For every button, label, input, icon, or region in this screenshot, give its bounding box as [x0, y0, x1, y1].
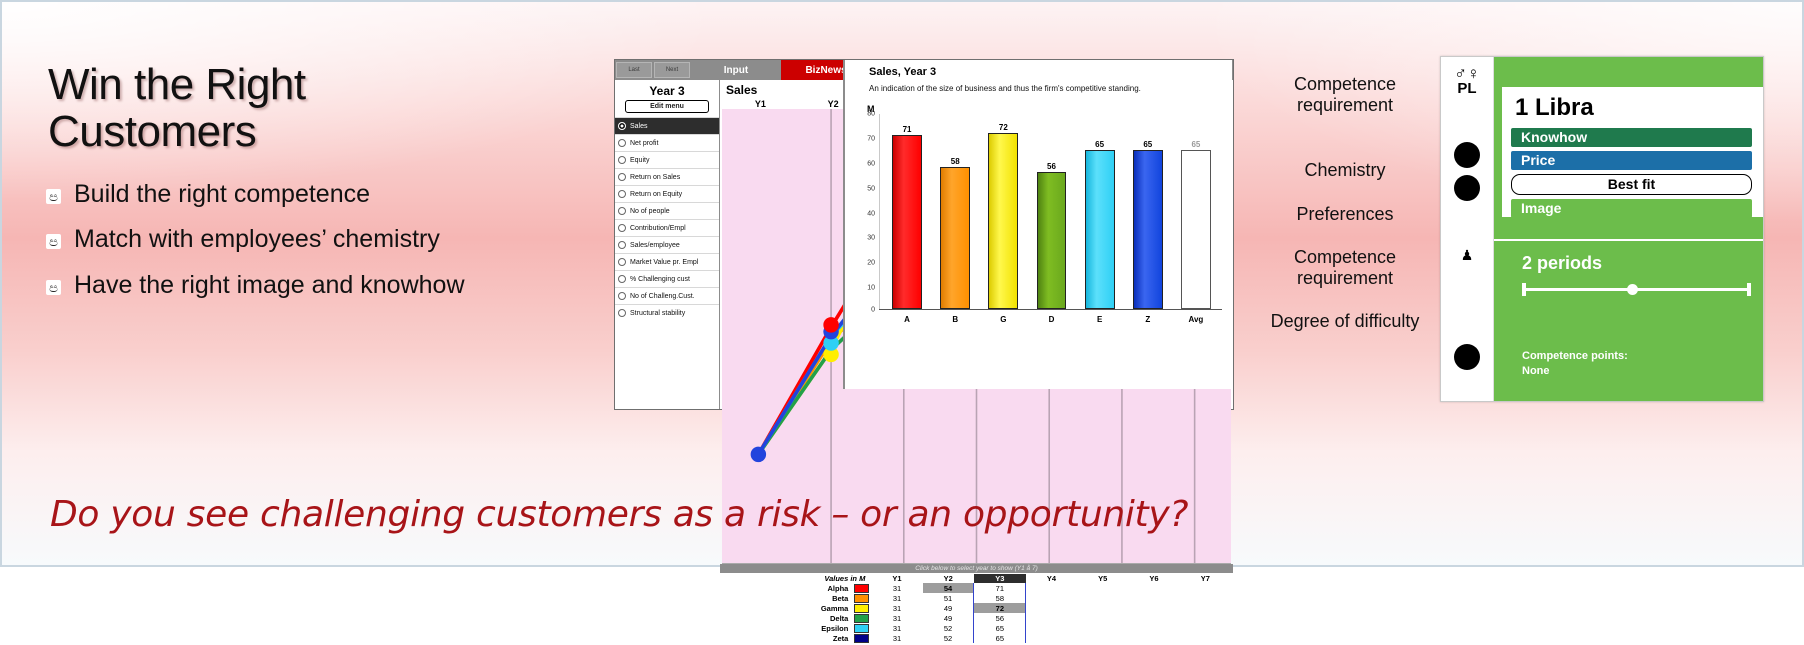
cell: 31 — [871, 623, 922, 633]
column-header-y7[interactable]: Y7 — [1180, 574, 1231, 583]
radio-icon — [618, 190, 626, 198]
radio-icon — [618, 122, 626, 130]
cell — [1026, 613, 1077, 623]
bar-x-labels: A B G D E Z Avg — [883, 315, 1220, 324]
bar-rect — [988, 133, 1018, 309]
y-tick: 0 — [855, 306, 875, 313]
radio-icon — [618, 258, 626, 266]
bar-item: 58 — [931, 114, 979, 309]
difficulty-dots — [1441, 135, 1493, 208]
cell — [1026, 583, 1077, 593]
card-detail-box: 1 Libra Knowhow Price Best fit Image — [1502, 87, 1763, 217]
cell: 52 — [923, 623, 974, 633]
bar-rect — [892, 135, 922, 309]
cell — [1077, 613, 1128, 623]
cell: 31 — [871, 603, 922, 613]
sidebar-item-label: Net profit — [630, 140, 658, 147]
card-divider — [1494, 239, 1763, 241]
radio-icon — [618, 173, 626, 181]
row-color-swatch — [852, 623, 871, 633]
cell — [1128, 603, 1179, 613]
pl-code-label: PL — [1441, 80, 1493, 97]
annotation-labels: Competence requirement Chemistry Prefere… — [1260, 74, 1430, 333]
label-preferences: Preferences — [1260, 204, 1430, 225]
cell — [1026, 633, 1077, 643]
bar-value: 56 — [1047, 162, 1056, 171]
list-item-label: Match with employees’ chemistry — [74, 225, 440, 254]
sidebar-item-structural-stability[interactable]: Structural stability — [615, 304, 719, 321]
bullet-list: ප Build the right competence ප Match wit… — [46, 180, 506, 316]
label-chemistry: Chemistry — [1260, 160, 1430, 181]
sidebar-item-label: Equity — [630, 157, 649, 164]
cell: 56 — [974, 613, 1026, 623]
table-row: Gamma 31 49 72 — [722, 603, 1231, 613]
bar-rect — [940, 167, 970, 309]
bar-item: 56 — [1027, 114, 1075, 309]
chip-knowhow[interactable]: Knowhow — [1511, 128, 1752, 147]
cell — [1128, 593, 1179, 603]
sidebar-item-pct-challenging-cust[interactable]: % Challenging cust — [615, 270, 719, 287]
cell — [1077, 633, 1128, 643]
column-header-y1[interactable]: Y1 — [871, 574, 922, 583]
list-item: ප Match with employees’ chemistry — [46, 225, 506, 254]
values-table-wrap: Values in M Y1 Y2 Y3 Y4 Y5 Y6 Y7 — [720, 573, 1233, 645]
sidebar-item-label: Return on Sales — [630, 174, 680, 181]
table-row: Beta 31 51 58 — [722, 593, 1231, 603]
cell — [1180, 613, 1231, 623]
y-tick: 10 — [855, 284, 875, 291]
cell: 51 — [923, 593, 974, 603]
row-color-swatch — [852, 583, 871, 593]
card-icon-column: ♂♀ PL ♟ — [1441, 57, 1494, 401]
cell — [1180, 583, 1231, 593]
cell: 49 — [923, 603, 974, 613]
list-item-label: Have the right image and knowhow — [74, 271, 465, 300]
sidebar-item-contribution-per-empl[interactable]: Contribution/Empl — [615, 219, 719, 236]
cell — [1077, 583, 1128, 593]
cell — [1026, 593, 1077, 603]
label-competence-requirement-1: Competence requirement — [1260, 74, 1430, 116]
bullet-glyph-icon: ප — [46, 280, 61, 295]
y-axis-line — [879, 114, 880, 310]
customer-card: ♂♀ PL ♟ 1 Libra Knowhow Price Best fit I… — [1440, 56, 1764, 402]
cell — [1026, 623, 1077, 633]
pl-block: ♂♀ PL — [1441, 65, 1493, 97]
cell: 49 — [923, 613, 974, 623]
cell — [1077, 593, 1128, 603]
sidebar-item-no-of-challenging-cust[interactable]: No of Challeng.Cust. — [615, 287, 719, 304]
sidebar-year-title: Year 3 — [615, 80, 719, 100]
difficulty-dot-icon — [1454, 175, 1480, 201]
cell: 71 — [974, 583, 1026, 593]
x-tick: B — [931, 315, 979, 324]
cell: 31 — [871, 593, 922, 603]
sidebar-item-label: No of people — [630, 208, 670, 215]
slider-knob[interactable] — [1627, 284, 1638, 295]
x-axis-line — [879, 309, 1222, 310]
radio-icon — [618, 275, 626, 283]
app-screenshot: Last Next Input BizNews Report Show 'Com… — [614, 59, 1234, 410]
bar-value: 58 — [951, 157, 960, 166]
sidebar-item-net-profit[interactable]: Net profit — [615, 134, 719, 151]
sidebar-item-label: Sales — [630, 123, 648, 130]
row-label: Zeta — [722, 633, 852, 643]
y-tick: 60 — [855, 160, 875, 167]
cell: 31 — [871, 613, 922, 623]
x-tick: E — [1076, 315, 1124, 324]
slider-cap-left — [1522, 283, 1526, 296]
sidebar-item-label: Contribution/Empl — [630, 225, 686, 232]
cell: 72 — [974, 603, 1026, 613]
sidebar-item-sales[interactable]: Sales — [615, 117, 719, 134]
column-header-y5[interactable]: Y5 — [1077, 574, 1128, 583]
cell — [1180, 633, 1231, 643]
x-tick: Avg — [1172, 315, 1220, 324]
cell: 52 — [923, 633, 974, 643]
row-color-swatch — [852, 593, 871, 603]
periods-label: 2 periods — [1522, 253, 1602, 274]
difficulty-dot-icon — [1454, 142, 1480, 168]
bar-item: 65 — [1124, 114, 1172, 309]
row-label: Beta — [722, 593, 852, 603]
table-label-header: Values in M — [722, 574, 871, 583]
table-header-row: Values in M Y1 Y2 Y3 Y4 Y5 Y6 Y7 — [722, 574, 1231, 583]
row-color-swatch — [852, 613, 871, 623]
app-sidebar: Year 3 Edit menu Sales Net profit Equity… — [615, 80, 720, 409]
row-label: Alpha — [722, 583, 852, 593]
sidebar-item-label: Structural stability — [630, 310, 685, 317]
sidebar-item-label: Return on Equity — [630, 191, 682, 198]
tagline: Do you see challenging customers as a ri… — [50, 494, 1188, 535]
chip-best-fit[interactable]: Best fit — [1511, 174, 1752, 195]
competence-points-value: None — [1522, 364, 1628, 379]
edit-menu-button[interactable]: Edit menu — [625, 100, 709, 113]
cell — [1128, 623, 1179, 633]
bar-item: 71 — [883, 114, 931, 309]
row-label: Delta — [722, 613, 852, 623]
x-tick: D — [1027, 315, 1075, 324]
cell — [1026, 603, 1077, 613]
x-tick: A — [883, 315, 931, 324]
cell — [1180, 623, 1231, 633]
year-header: Y1 — [724, 99, 797, 109]
bar-rect — [1181, 150, 1211, 309]
app-body: Year 3 Edit menu Sales Net profit Equity… — [615, 80, 1233, 409]
bar-item: 65 — [1076, 114, 1124, 309]
radio-icon — [618, 207, 626, 215]
sidebar-item-label: No of Challeng.Cust. — [630, 293, 695, 300]
y-tick: 70 — [855, 136, 875, 143]
bar-item: 65 — [1172, 114, 1220, 309]
tab-next[interactable]: Next — [654, 62, 690, 78]
page-title: Win the Right Customers — [48, 62, 478, 155]
cell: 31 — [871, 633, 922, 643]
x-tick: Z — [1124, 315, 1172, 324]
row-label: Epsilon — [722, 623, 852, 633]
column-header-y6[interactable]: Y6 — [1128, 574, 1179, 583]
list-item-label: Build the right competence — [74, 180, 370, 209]
list-item: ප Have the right image and knowhow — [46, 271, 506, 300]
table-row: Zeta 31 52 65 — [722, 633, 1231, 643]
cell: 58 — [974, 593, 1026, 603]
bar-chart-description: An indication of the size of business an… — [869, 84, 1169, 94]
radio-icon — [618, 241, 626, 249]
sidebar-item-sales-per-employee[interactable]: Sales/employee — [615, 236, 719, 253]
cell: 31 — [871, 583, 922, 593]
cell: 65 — [974, 633, 1026, 643]
label-competence-requirement-2: Competence requirement — [1260, 247, 1430, 289]
cell — [1077, 623, 1128, 633]
tab-input[interactable]: Input — [691, 60, 781, 80]
chip-image[interactable]: Image — [1511, 199, 1752, 218]
cell — [1128, 583, 1179, 593]
bullet-glyph-icon: ප — [46, 234, 61, 249]
bar-chart-plot: 80 70 60 50 40 30 20 10 0 71 — [855, 114, 1222, 324]
label-degree-of-difficulty: Degree of difficulty — [1260, 311, 1430, 332]
list-item: ප Build the right competence — [46, 180, 506, 209]
bar-series: 71 58 72 56 — [883, 114, 1220, 309]
radio-icon — [618, 224, 626, 232]
bar-value: 65 — [1143, 140, 1152, 149]
cell — [1077, 603, 1128, 613]
sidebar-item-return-on-equity[interactable]: Return on Equity — [615, 185, 719, 202]
competence-points-label: Competence points: — [1522, 349, 1628, 364]
bar-rect — [1085, 150, 1115, 309]
radio-icon — [618, 309, 626, 317]
sidebar-item-return-on-sales[interactable]: Return on Sales — [615, 168, 719, 185]
column-header-y4[interactable]: Y4 — [1026, 574, 1077, 583]
cell — [1128, 613, 1179, 623]
values-table: Values in M Y1 Y2 Y3 Y4 Y5 Y6 Y7 — [722, 574, 1231, 643]
radio-icon — [618, 156, 626, 164]
customer-name: 1 Libra — [1515, 94, 1752, 122]
y-tick: 50 — [855, 185, 875, 192]
cell — [1128, 633, 1179, 643]
cell: 65 — [974, 623, 1026, 633]
sidebar-item-equity[interactable]: Equity — [615, 151, 719, 168]
bullet-glyph-icon: ප — [46, 189, 61, 204]
bar-value: 65 — [1095, 140, 1104, 149]
bar-item: 72 — [979, 114, 1027, 309]
tab-last[interactable]: Last — [616, 62, 652, 78]
row-label: Gamma — [722, 603, 852, 613]
sidebar-item-label: Sales/employee — [630, 242, 680, 249]
y-tick: 40 — [855, 210, 875, 217]
cell: 54 — [923, 583, 974, 593]
bar-value: 71 — [903, 125, 912, 134]
cell — [1180, 593, 1231, 603]
bar-chart-y-unit: M — [867, 104, 1226, 114]
bar-chart-title: Sales, Year 3 — [869, 66, 1226, 78]
sidebar-item-no-of-people[interactable]: No of people — [615, 202, 719, 219]
sidebar-item-label: % Challenging cust — [630, 276, 690, 283]
y-tick: 80 — [855, 111, 875, 118]
column-header-y3[interactable]: Y3 — [974, 574, 1026, 583]
row-color-swatch — [852, 633, 871, 643]
bar-chart-panel: Sales, Year 3 An indication of the size … — [843, 60, 1232, 389]
x-tick: G — [979, 315, 1027, 324]
bar-value: 65 — [1191, 140, 1200, 149]
competence-points: Competence points: None — [1522, 349, 1628, 379]
table-row: Delta 31 49 56 — [722, 613, 1231, 623]
table-row: Epsilon 31 52 65 — [722, 623, 1231, 633]
table-row: Alpha 31 54 71 — [722, 583, 1231, 593]
bar-value: 72 — [999, 123, 1008, 132]
periods-slider[interactable] — [1522, 283, 1751, 295]
radio-icon — [618, 292, 626, 300]
bar-rect — [1133, 150, 1163, 309]
bar-rect — [1037, 172, 1067, 309]
cell — [1180, 603, 1231, 613]
slider-cap-right — [1747, 283, 1751, 296]
column-header-y2[interactable]: Y2 — [923, 574, 974, 583]
year-select-hint: Click below to select year to show (Y1 å… — [720, 564, 1233, 573]
slide-root: Win the Right Customers ප Build the righ… — [0, 0, 1804, 567]
y-tick: 30 — [855, 235, 875, 242]
radio-icon — [618, 139, 626, 147]
difficulty-dot-lower — [1441, 337, 1493, 377]
chip-price[interactable]: Price — [1511, 151, 1752, 170]
y-tick: 20 — [855, 260, 875, 267]
card-green-column: 1 Libra Knowhow Price Best fit Image 2 p… — [1494, 57, 1763, 401]
row-color-swatch — [852, 603, 871, 613]
sidebar-item-label: Market Value pr. Empl — [630, 259, 698, 266]
person-small-icon: ♟ — [1441, 247, 1493, 265]
sidebar-item-market-value-per-empl[interactable]: Market Value pr. Empl — [615, 253, 719, 270]
